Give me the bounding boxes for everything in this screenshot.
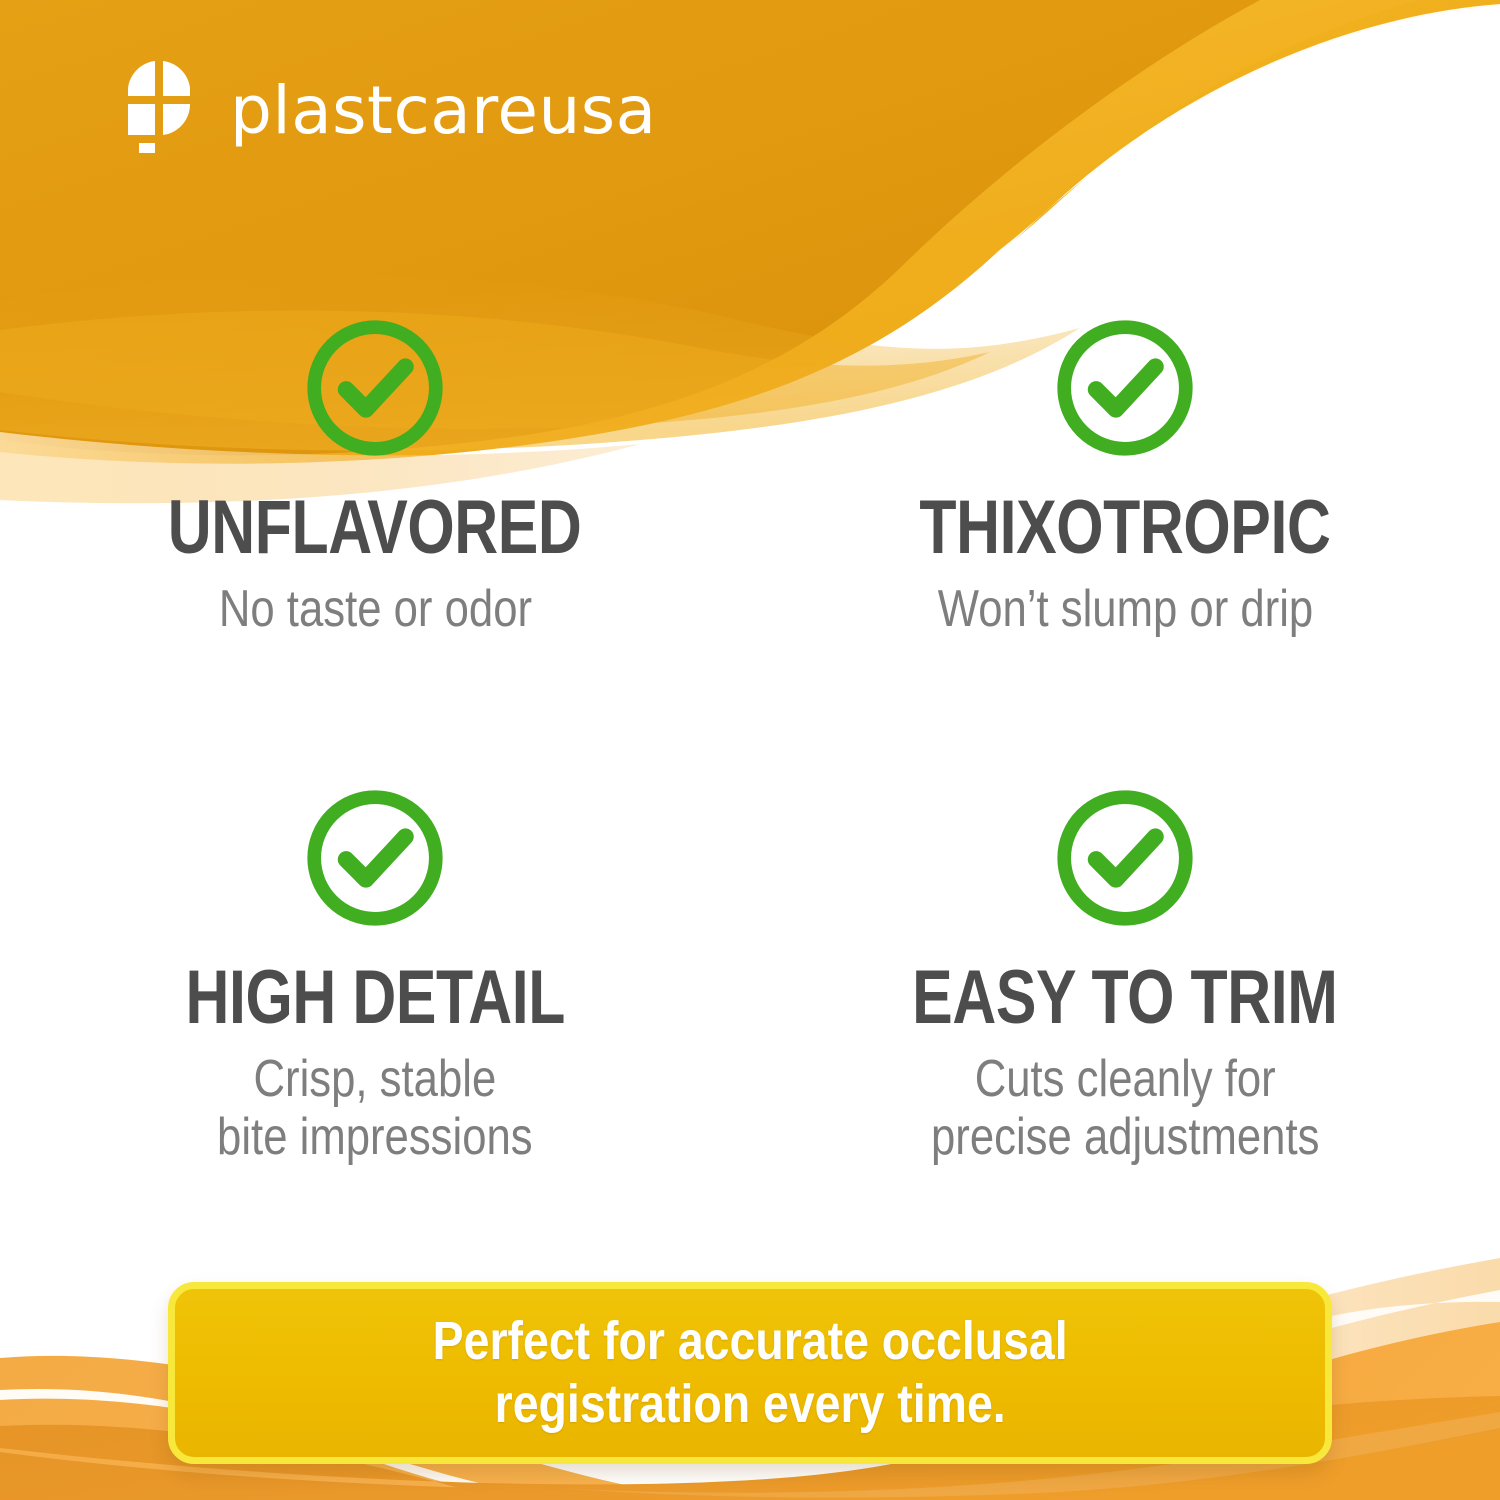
check-circle-icon xyxy=(1049,312,1201,464)
brand-name: plastcareusa xyxy=(230,78,657,144)
feature-grid: UNFLAVORED No taste or odor THIXOTROPIC … xyxy=(0,296,1500,1236)
feature-subtitle: Crisp, stable bite impressions xyxy=(217,1050,533,1166)
feature-subtitle: No taste or odor xyxy=(218,580,531,638)
feature-title: EASY TO TRIM xyxy=(912,960,1337,1036)
feature-title: THIXOTROPIC xyxy=(919,490,1330,566)
feature-subtitle: Cuts cleanly for precise adjustments xyxy=(931,1050,1319,1166)
check-circle-icon xyxy=(299,782,451,934)
feature-item-easy-to-trim: EASY TO TRIM Cuts cleanly for precise ad… xyxy=(750,766,1500,1236)
feature-title: UNFLAVORED xyxy=(168,490,582,566)
brand-lockup: plastcareusa xyxy=(122,48,657,166)
feature-item-unflavored: UNFLAVORED No taste or odor xyxy=(0,296,750,766)
check-circle-icon xyxy=(1049,782,1201,934)
feature-item-thixotropic: THIXOTROPIC Won’t slump or drip xyxy=(750,296,1500,766)
check-circle-icon xyxy=(299,312,451,464)
tagline-text: Perfect for accurate occlusal registrati… xyxy=(433,1310,1068,1436)
feature-subtitle: Won’t slump or drip xyxy=(937,580,1312,638)
tagline-banner: Perfect for accurate occlusal registrati… xyxy=(168,1282,1332,1464)
segmented-circle-logo-icon xyxy=(122,55,196,159)
feature-item-high-detail: HIGH DETAIL Crisp, stable bite impressio… xyxy=(0,766,750,1236)
feature-title: HIGH DETAIL xyxy=(185,960,565,1036)
promo-poster: plastcareusa UNFLAVORED No taste or odor… xyxy=(0,0,1500,1500)
